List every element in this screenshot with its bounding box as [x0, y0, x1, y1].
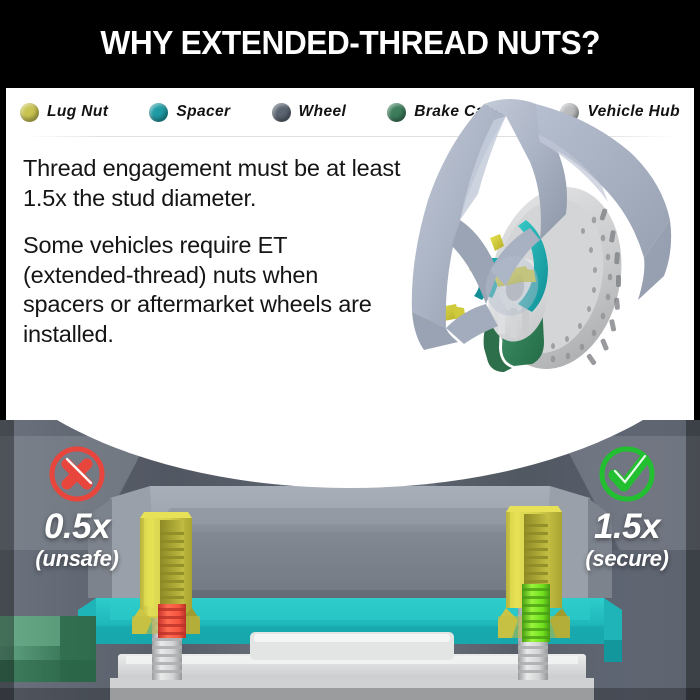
verdict-unsafe-note: (unsafe)	[2, 546, 152, 572]
legend-item-wheel: Wheel	[272, 103, 347, 122]
verdict-unsafe: 0.5x (unsafe)	[2, 443, 152, 572]
legend-item-spacer: Spacer	[149, 103, 230, 122]
legend-label-spacer: Spacer	[176, 103, 230, 121]
verdict-unsafe-value: 0.5x	[2, 509, 152, 544]
spacer-swatch-icon	[149, 103, 168, 122]
content-card: Lug Nut Spacer Wheel Brake Caliper Vehic…	[6, 88, 694, 434]
legend-item-lug-nut: Lug Nut	[20, 103, 108, 122]
body-paragraph-2: Some vehicles require ET (extended-threa…	[23, 231, 403, 350]
cross-icon	[46, 443, 108, 505]
legend-label-wheel: Wheel	[299, 103, 347, 121]
verdict-secure-note: (secure)	[552, 546, 700, 572]
wheel-brake-assembly-illustration	[394, 90, 694, 434]
body-paragraph-1: Thread engagement must be at least 1.5x …	[23, 154, 403, 214]
lug-nut-swatch-icon	[20, 103, 39, 122]
check-icon	[596, 443, 658, 505]
wheel-swatch-icon	[272, 103, 291, 122]
body-copy: Thread engagement must be at least 1.5x …	[23, 154, 403, 350]
page-title: WHY EXTENDED-THREAD NUTS?	[100, 24, 600, 62]
verdict-secure: 1.5x (secure)	[552, 443, 700, 572]
infographic-root: WHY EXTENDED-THREAD NUTS? Lug Nut Spacer…	[0, 0, 700, 700]
verdict-secure-value: 1.5x	[552, 509, 700, 544]
title-bar: WHY EXTENDED-THREAD NUTS?	[0, 0, 700, 86]
legend-label-lug-nut: Lug Nut	[47, 103, 108, 121]
